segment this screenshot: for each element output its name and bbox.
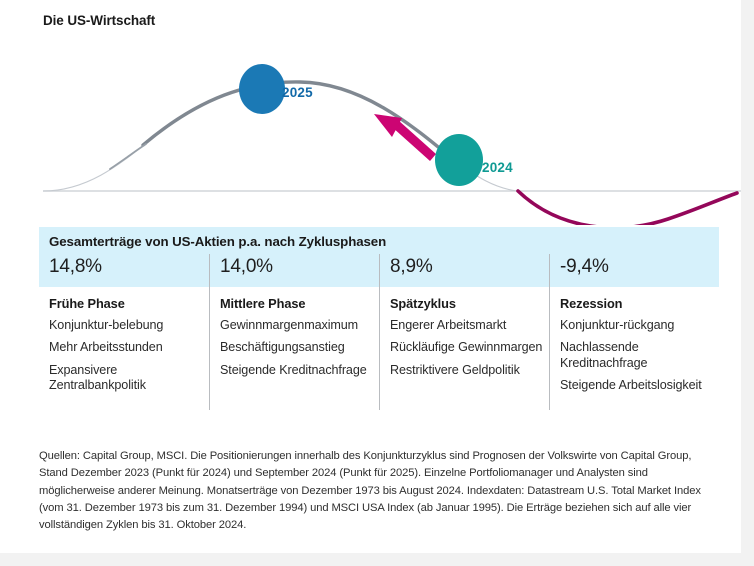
phase-name-early: Frühe Phase — [49, 296, 203, 311]
table-value-row: 14,8% 14,0% 8,9% -9,4% — [39, 254, 719, 287]
page-canvas: Die US-Wirtschaft 2025 — [0, 0, 741, 553]
phase-column-mid: Mittlere Phase Gewinnmargenmaximum Besch… — [209, 287, 379, 410]
phase-bullet: Konjunktur-rückgang — [560, 318, 713, 333]
footnote-sources: Quellen: Capital Group, MSCI. Die Positi… — [39, 448, 719, 535]
page-title: Die US-Wirtschaft — [43, 13, 155, 28]
phase-bullet: Rückläufige Gewinnmargen — [390, 340, 543, 355]
phase-name-recession: Rezession — [560, 296, 713, 311]
phase-bullet: Konjunktur-belebung — [49, 318, 203, 333]
phase-bullet: Steigende Arbeitslosigkeit — [560, 378, 713, 393]
table-body-row: Frühe Phase Konjunktur-belebung Mehr Arb… — [39, 287, 719, 410]
table-header-band: Gesamterträge von US-Aktien p.a. nach Zy… — [39, 227, 719, 287]
table-title: Gesamterträge von US-Aktien p.a. nach Zy… — [39, 227, 719, 254]
business-cycle-chart: 2025 2024 — [0, 35, 741, 225]
phase-bullet: Steigende Kreditnachfrage — [220, 363, 373, 378]
phase-name-late: Spätzyklus — [390, 296, 543, 311]
phase-bullet: Beschäftigungsanstieg — [220, 340, 373, 355]
page-bottom-gutter — [0, 553, 754, 566]
return-value-late: 8,9% — [379, 254, 549, 287]
return-value-mid: 14,0% — [209, 254, 379, 287]
phase-column-recession: Rezession Konjunktur-rückgang Nachlassen… — [549, 287, 719, 410]
return-value-recession: -9,4% — [549, 254, 719, 287]
phase-bullet: Restriktivere Geldpolitik — [390, 363, 543, 378]
phase-bullet: Gewinnmargenmaximum — [220, 318, 373, 333]
phase-bullet: Engerer Arbeitsmarkt — [390, 318, 543, 333]
phase-name-mid: Mittlere Phase — [220, 296, 373, 311]
page-right-gutter — [741, 0, 754, 566]
marker-2025-label: 2025 — [282, 85, 313, 100]
phase-bullet: Nachlassende Kreditnachfrage — [560, 340, 713, 371]
phase-column-early: Frühe Phase Konjunktur-belebung Mehr Arb… — [39, 287, 209, 410]
marker-2025 — [239, 64, 285, 114]
cycle-curve-svg — [0, 35, 741, 225]
marker-2024-label: 2024 — [482, 160, 513, 175]
curve-peak-taper-left — [110, 144, 146, 169]
phase-returns-table: Gesamterträge von US-Aktien p.a. nach Zy… — [39, 227, 719, 410]
phase-column-late: Spätzyklus Engerer Arbeitsmarkt Rückläuf… — [379, 287, 549, 410]
phase-bullet: Mehr Arbeitsstunden — [49, 340, 203, 355]
marker-2024 — [435, 134, 483, 186]
phase-bullet: Expansivere Zentralbankpolitik — [49, 363, 203, 394]
curve-recession — [518, 191, 737, 225]
return-value-early: 14,8% — [39, 254, 209, 287]
